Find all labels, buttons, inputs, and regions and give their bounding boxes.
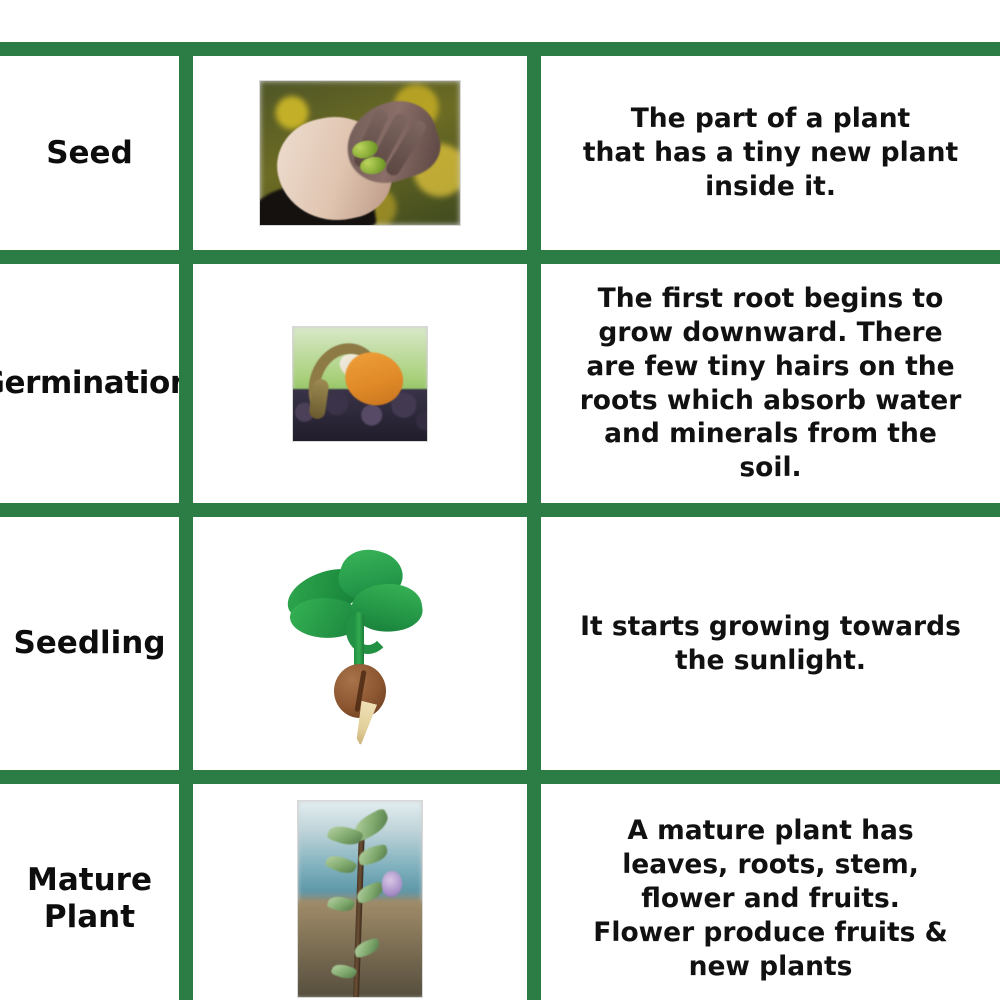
stage-name-cell: Mature Plant — [0, 784, 193, 1000]
stage-description-cell: The part of a plant that has a tiny new … — [541, 56, 1000, 250]
stage-image-cell — [193, 784, 541, 1000]
stage-image-cell — [193, 56, 541, 250]
stage-image-cell — [193, 517, 541, 770]
table-row: Seedling It starts growing towards the s… — [0, 503, 1000, 770]
stage-name-cell: Seedling — [0, 517, 193, 770]
life-cycle-grid: Seed The part of a plant that has a tiny… — [0, 42, 1000, 1000]
stem-bend-shape — [346, 606, 390, 654]
table-row: Germination The first root begins to gro… — [0, 250, 1000, 503]
stage-description-cell: It starts growing towards the sunlight. — [541, 517, 1000, 770]
stage-label: Seed — [46, 135, 133, 172]
stage-label: Seedling — [13, 625, 165, 662]
stage-description: The first root begins to grow downward. … — [580, 282, 962, 485]
hand-holding-seeds-photo — [259, 80, 461, 226]
stage-description: A mature plant has leaves, roots, stem, … — [593, 814, 947, 984]
stage-description-cell: A mature plant has leaves, roots, stem, … — [541, 784, 1000, 1000]
stage-label: Mature Plant — [27, 862, 152, 935]
stage-name-cell: Germination — [0, 264, 193, 503]
germinating-seed-photo — [292, 326, 428, 442]
stage-description: It starts growing towards the sunlight. — [580, 610, 961, 678]
seedling-illustration — [280, 544, 440, 744]
plant-life-cycle-table: Seed The part of a plant that has a tiny… — [0, 0, 1000, 1000]
stage-description: The part of a plant that has a tiny new … — [583, 102, 958, 204]
table-row: Mature Plant A — [0, 770, 1000, 1000]
stage-image-cell — [193, 264, 541, 503]
table-row: Seed The part of a plant that has a tiny… — [0, 42, 1000, 250]
stage-description-cell: The first root begins to grow downward. … — [541, 264, 1000, 503]
mature-plant-photo — [297, 800, 423, 998]
stage-name-cell: Seed — [0, 56, 193, 250]
stage-label: Germination — [0, 365, 192, 402]
